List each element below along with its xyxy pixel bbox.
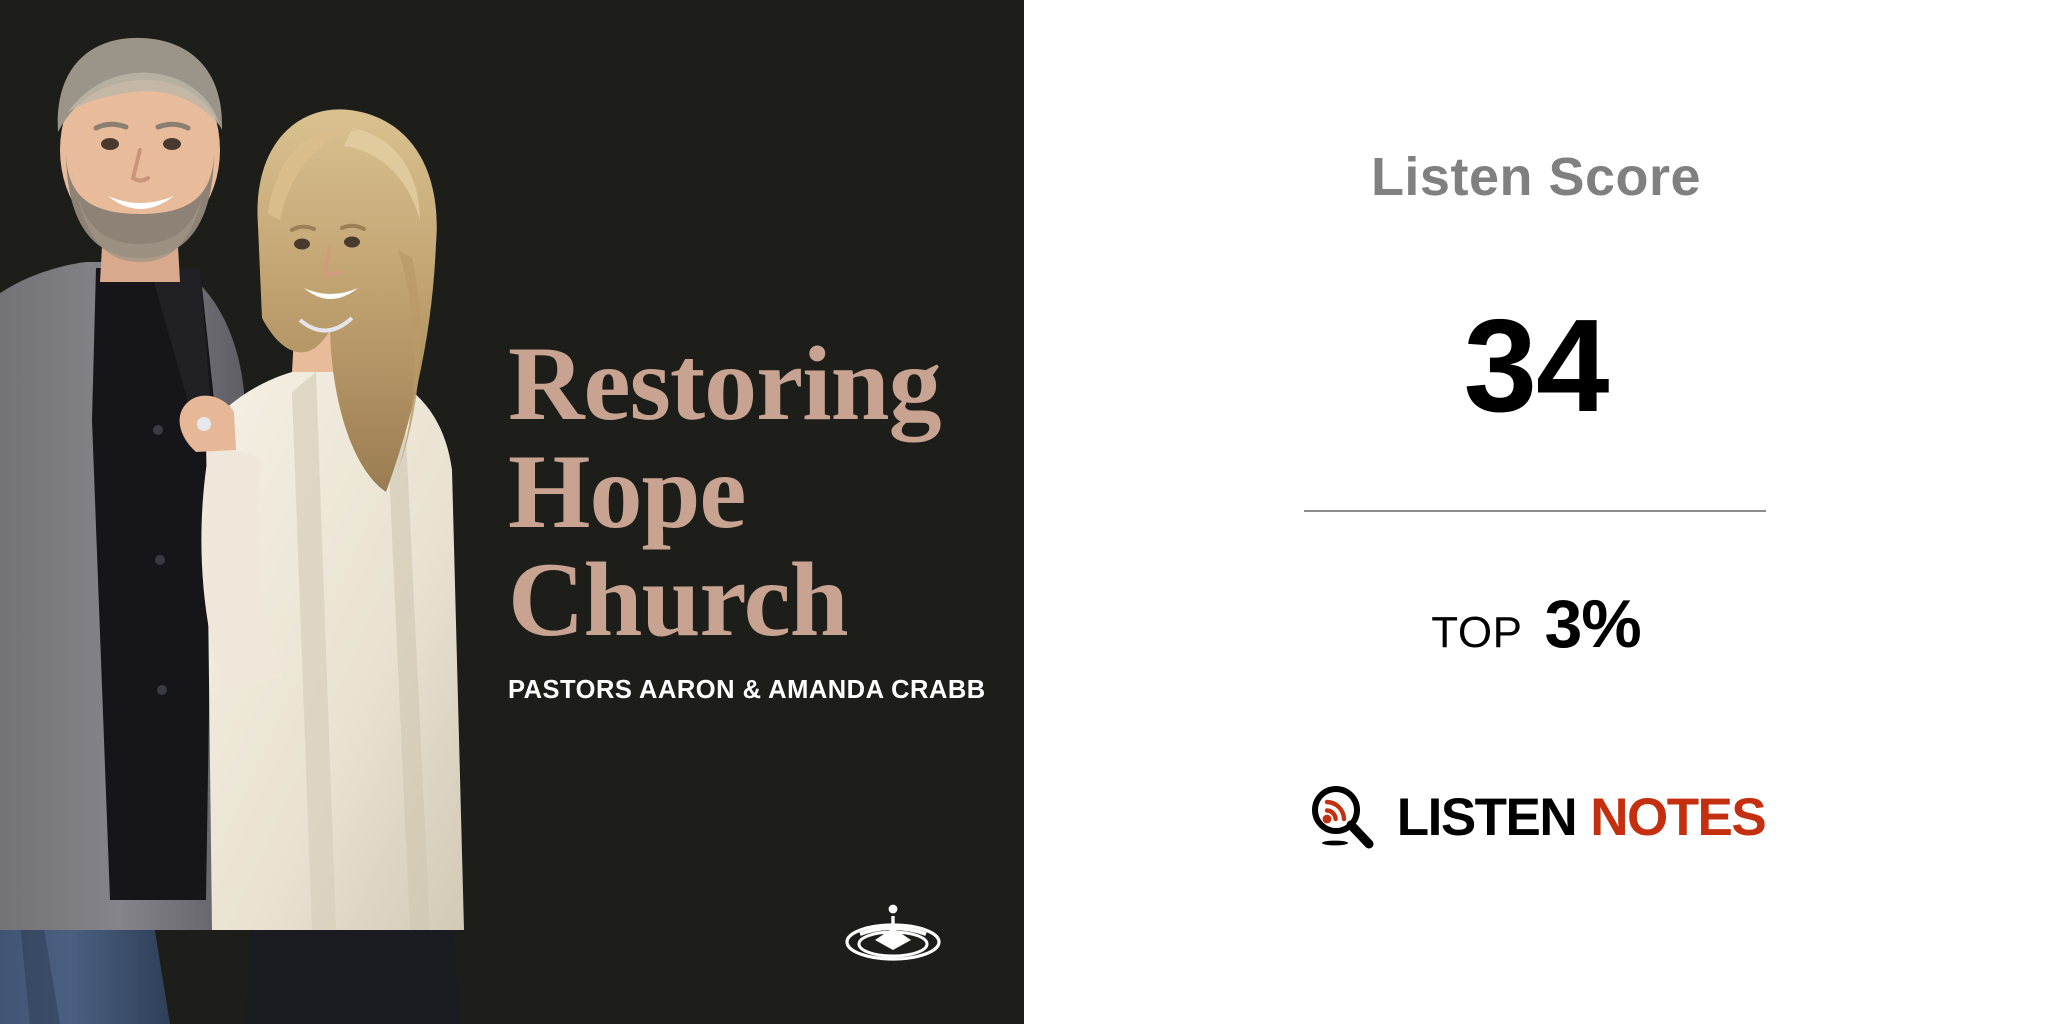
podcast-hosts: PASTORS AARON & AMANDA CRABB bbox=[508, 676, 1008, 705]
listen-score-title: Listen Score bbox=[1024, 146, 2048, 208]
magnifier-rss-icon bbox=[1307, 782, 1377, 852]
listen-score-panel: Listen Score 34 TOP3% LISTENNOTES bbox=[1024, 0, 2048, 1024]
rank-percentile: 3% bbox=[1544, 586, 1640, 662]
rank-label: TOP bbox=[1431, 608, 1522, 657]
brand-word-listen: LISTEN bbox=[1397, 788, 1576, 847]
listen-score-card: Restoring Hope Church PASTORS AARON & AM… bbox=[0, 0, 2048, 1024]
podcast-cover-art[interactable]: Restoring Hope Church PASTORS AARON & AM… bbox=[0, 0, 1024, 1024]
listen-notes-logo[interactable]: LISTENNOTES bbox=[1024, 782, 2048, 852]
water-droplet-ripple-icon bbox=[838, 898, 948, 978]
cover-text-block: Restoring Hope Church PASTORS AARON & AM… bbox=[508, 330, 1008, 705]
score-divider bbox=[1304, 510, 1766, 512]
hosts-photo bbox=[0, 0, 500, 1024]
podcast-title: Restoring Hope Church bbox=[508, 330, 1008, 654]
listen-score-value: 34 bbox=[1024, 300, 2048, 432]
rank-row: TOP3% bbox=[1024, 590, 2048, 658]
brand-wordmark: LISTENNOTES bbox=[1397, 791, 1766, 844]
brand-word-notes: NOTES bbox=[1590, 788, 1765, 847]
